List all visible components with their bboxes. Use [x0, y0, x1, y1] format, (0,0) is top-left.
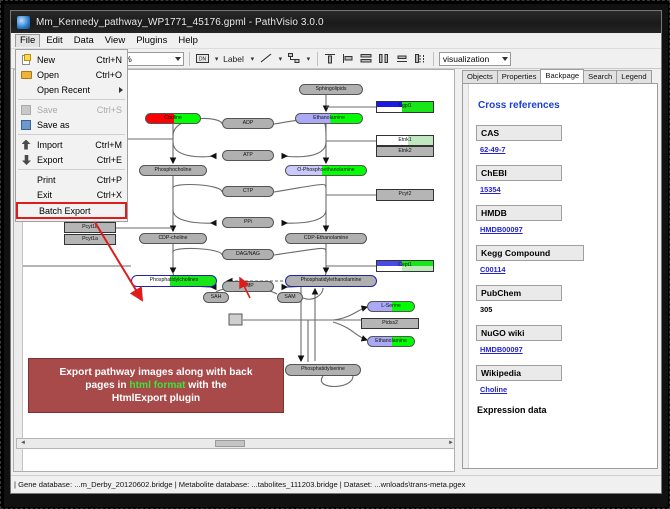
xref-nugo-wiki: NuGO wiki HMDB00097 [476, 325, 653, 362]
menu-item-batch-export[interactable]: Batch Export [16, 202, 127, 219]
menu-item-open-accel: Ctrl+O [96, 70, 124, 80]
scroll-left-arrow-icon[interactable]: ◄ [19, 440, 27, 447]
xref-cas: CAS 62-49-7 [476, 125, 653, 162]
callout-banner: Export pathway images along with back pa… [28, 358, 284, 413]
align-top-icon[interactable] [323, 51, 338, 66]
node-atp[interactable]: ATP [222, 150, 274, 161]
align-left-icon[interactable] [341, 51, 356, 66]
status-bar-text: | Gene database: ...m_Derby_20120602.bri… [14, 480, 465, 489]
toolbar-separator-4 [433, 52, 434, 66]
xref-chebi-value[interactable]: 15354 [476, 181, 653, 202]
pathvisio-icon [17, 16, 30, 29]
node-pcyt1a[interactable]: Pcyt1a [64, 234, 116, 245]
menu-item-print-accel: Ctrl+P [97, 175, 124, 185]
menu-item-exit[interactable]: Exit Ctrl+X [16, 187, 127, 202]
xref-pubchem: PubChem 305 [476, 285, 653, 322]
node-sgpl1[interactable]: Sgpl1 [376, 101, 434, 113]
line-dropdown-icon[interactable]: ▾ [277, 55, 284, 63]
xref-cas-label: CAS [476, 125, 562, 141]
menu-item-new-label: New [33, 55, 96, 65]
node-cdp-choline[interactable]: CDP-choline [139, 233, 207, 244]
menu-item-save-as-label: Save as [33, 120, 122, 130]
xref-chebi: ChEBI 15354 [476, 165, 653, 202]
xref-hmdb: HMDB HMDB00097 [476, 205, 653, 242]
node-l-serine[interactable]: L-Serine [367, 301, 415, 312]
xref-kegg-compound: Kegg Compound C00114 [476, 245, 653, 282]
scrollbar-thumb[interactable] [215, 440, 245, 447]
menu-separator-3 [18, 169, 125, 170]
node-ctp[interactable]: CTP [222, 186, 274, 197]
tab-backpage[interactable]: Backpage [540, 69, 584, 84]
node-ptdss2[interactable]: Ptdss2 [361, 318, 419, 329]
application-window: Mm_Kennedy_pathway_WP1771_45176.gpml - P… [10, 10, 662, 494]
title-bar: Mm_Kennedy_pathway_WP1771_45176.gpml - P… [11, 11, 662, 33]
menu-item-open-recent[interactable]: Open Recent [16, 82, 127, 97]
menu-item-print-label: Print [33, 175, 97, 185]
menu-item-export-label: Export [33, 155, 97, 165]
menu-item-export[interactable]: Export Ctrl+E [16, 152, 127, 167]
menu-item-save-label: Save [33, 105, 97, 115]
screenshot-root: Mm_Kennedy_pathway_WP1771_45176.gpml - P… [0, 0, 670, 509]
datanode-icon[interactable]: DN [195, 51, 210, 66]
callout-line-2-pre: pages in [85, 380, 129, 391]
tab-objects[interactable]: Objects [462, 70, 498, 84]
node-cdp-ethanolamine[interactable]: CDP-Ethanolamine [285, 233, 367, 244]
visualization-value: visualization [443, 54, 489, 64]
connector-tool-icon[interactable] [287, 51, 302, 66]
export-icon [19, 154, 33, 166]
menu-item-export-accel: Ctrl+E [97, 155, 124, 165]
side-panel: Objects Properties Backpage Search Legen… [458, 69, 661, 472]
node-adp[interactable]: ADP [222, 118, 274, 129]
group-icon[interactable] [413, 51, 428, 66]
node-cept1[interactable]: Cept1 [376, 260, 434, 272]
align-columns-icon[interactable] [377, 51, 392, 66]
status-bar: | Gene database: ...m_Derby_20120602.bri… [11, 475, 662, 493]
save-disk-icon [19, 104, 33, 116]
tab-search[interactable]: Search [583, 70, 617, 84]
menu-item-exit-accel: Ctrl+X [97, 190, 124, 200]
node-phosphatidylserine[interactable]: Phosphatidylserine [285, 364, 361, 376]
menu-item-save-accel: Ctrl+S [97, 105, 124, 115]
callout-line-3: HtmlExport plugin [112, 393, 200, 404]
open-folder-icon [19, 69, 33, 81]
blank-icon [19, 84, 33, 96]
menu-item-open-recent-label: Open Recent [33, 85, 124, 95]
callout-line-2-post: with the [185, 380, 226, 391]
node-dag-nag[interactable]: DAG/NAG [222, 249, 274, 260]
tab-legend[interactable]: Legend [616, 70, 651, 84]
canvas-horizontal-scrollbar[interactable]: ◄ ► [16, 438, 455, 449]
menu-item-new[interactable]: New Ctrl+N [16, 52, 127, 67]
chevron-down-icon [175, 57, 181, 61]
backpage-scrollbar[interactable] [463, 84, 469, 469]
node-sah[interactable]: SAH [203, 292, 229, 303]
node-phosphatidylethanolamine[interactable]: Phosphatidylethanolamine [285, 275, 377, 287]
menu-item-new-accel: Ctrl+N [96, 55, 124, 65]
node-sphingolipids[interactable]: Sphingolipids [299, 84, 363, 95]
cross-references-title: Cross references [478, 100, 653, 111]
node-phosphocholine[interactable]: Phosphocholine [139, 165, 207, 176]
label-dropdown-icon[interactable]: ▾ [249, 55, 256, 63]
line-tool-icon[interactable] [259, 51, 274, 66]
xref-chebi-label: ChEBI [476, 165, 562, 181]
menu-item-open-label: Open [33, 70, 96, 80]
xref-nugo-label: NuGO wiki [476, 325, 562, 341]
menu-separator-2 [18, 134, 125, 135]
backpage-content: Cross references CAS 62-49-7 ChEBI 15354… [470, 84, 658, 469]
tab-properties[interactable]: Properties [497, 70, 542, 84]
menu-item-exit-label: Exit [33, 190, 97, 200]
menu-item-print[interactable]: Print Ctrl+P [16, 172, 127, 187]
node-cmp[interactable]: CMP [222, 281, 274, 292]
window-title: Mm_Kennedy_pathway_WP1771_45176.gpml - P… [36, 17, 324, 28]
menu-separator-1 [18, 99, 125, 100]
menu-item-import-label: Import [33, 140, 95, 150]
callout-text: Export pathway images along with back pa… [53, 366, 258, 405]
save-as-disk-icon [19, 119, 33, 131]
svg-text:DN: DN [199, 57, 207, 63]
node-sam[interactable]: SAM [277, 292, 303, 303]
align-distribute-icon[interactable] [359, 51, 374, 66]
toolbar-separator-3 [317, 52, 318, 66]
node-etnk2[interactable]: Etnk2 [376, 146, 434, 157]
xref-kegg-label: Kegg Compound [476, 245, 584, 261]
menu-item-batch-export-label: Batch Export [35, 206, 122, 216]
menu-data[interactable]: Data [69, 34, 99, 48]
node-etnk1[interactable]: Etnk1 [376, 135, 434, 146]
label-tool-label: Label [223, 54, 244, 64]
backpage-panel: Cross references CAS 62-49-7 ChEBI 15354… [462, 83, 658, 469]
submenu-arrow-icon [119, 87, 123, 93]
node-phosphatidylcholines[interactable]: Phosphatidylcholines [131, 275, 217, 287]
xref-pubchem-label: PubChem [476, 285, 562, 301]
menu-edit[interactable]: Edit [41, 34, 67, 48]
new-document-icon [19, 54, 33, 66]
toolbar-separator-2 [189, 52, 190, 66]
visualization-combobox[interactable]: visualization [439, 52, 511, 66]
menu-view[interactable]: View [100, 34, 130, 48]
xref-hmdb-value[interactable]: HMDB00097 [476, 221, 653, 242]
import-icon [19, 139, 33, 151]
xref-pubchem-value: 305 [476, 301, 653, 322]
blank-icon-2 [19, 174, 33, 186]
blank-icon-4 [21, 205, 35, 217]
menu-help[interactable]: Help [173, 34, 203, 48]
callout-line-2-highlight: html format [129, 380, 185, 391]
xref-wikipedia-value[interactable]: Choline [476, 381, 653, 402]
xref-kegg-value[interactable]: C00114 [476, 261, 653, 282]
menu-item-import-accel: Ctrl+M [95, 140, 124, 150]
menu-plugins[interactable]: Plugins [131, 34, 172, 48]
node-ppi[interactable]: PPi [222, 217, 274, 228]
chevron-down-icon-2 [502, 57, 508, 61]
menu-bar: File Edit Data View Plugins Help [11, 33, 662, 49]
node-o-phosphoethanolamine[interactable]: O-Phosphoethanolamine [285, 165, 367, 176]
node-pcyt1b[interactable]: Pcyt1b [64, 222, 116, 233]
menu-file[interactable]: File [15, 34, 40, 47]
callout-line-1: Export pathway images along with back [59, 367, 252, 378]
node-pcyt2[interactable]: Pcyt2 [376, 189, 434, 201]
side-panel-tabs: Objects Properties Backpage Search Legen… [462, 69, 651, 84]
expression-data-title: Expression data [477, 405, 653, 415]
xref-wikipedia: Wikipedia Choline [476, 365, 653, 402]
datanode-dropdown-icon[interactable]: ▾ [213, 55, 220, 63]
xref-cas-value[interactable]: 62-49-7 [476, 141, 653, 162]
menu-item-import[interactable]: Import Ctrl+M [16, 137, 127, 152]
node-choline[interactable]: Choline [145, 113, 201, 124]
scroll-right-arrow-icon[interactable]: ► [447, 440, 455, 447]
node-ethanolamine-top[interactable]: Ethanolamine [295, 113, 363, 124]
xref-wikipedia-label: Wikipedia [476, 365, 562, 381]
blank-icon-3 [19, 189, 33, 201]
menu-item-save-as[interactable]: Save as [16, 117, 127, 132]
stack-icon[interactable] [395, 51, 410, 66]
menu-item-open[interactable]: Open Ctrl+O [16, 67, 127, 82]
node-ethanolamine-bottom[interactable]: Ethanolamine [367, 336, 415, 347]
xref-hmdb-label: HMDB [476, 205, 562, 221]
connector-dropdown-icon[interactable]: ▾ [305, 55, 312, 63]
xref-nugo-value[interactable]: HMDB00097 [476, 341, 653, 362]
menu-item-save[interactable]: Save Ctrl+S [16, 102, 127, 117]
file-menu-popup[interactable]: New Ctrl+N Open Ctrl+O Open Recent Save … [15, 49, 128, 222]
